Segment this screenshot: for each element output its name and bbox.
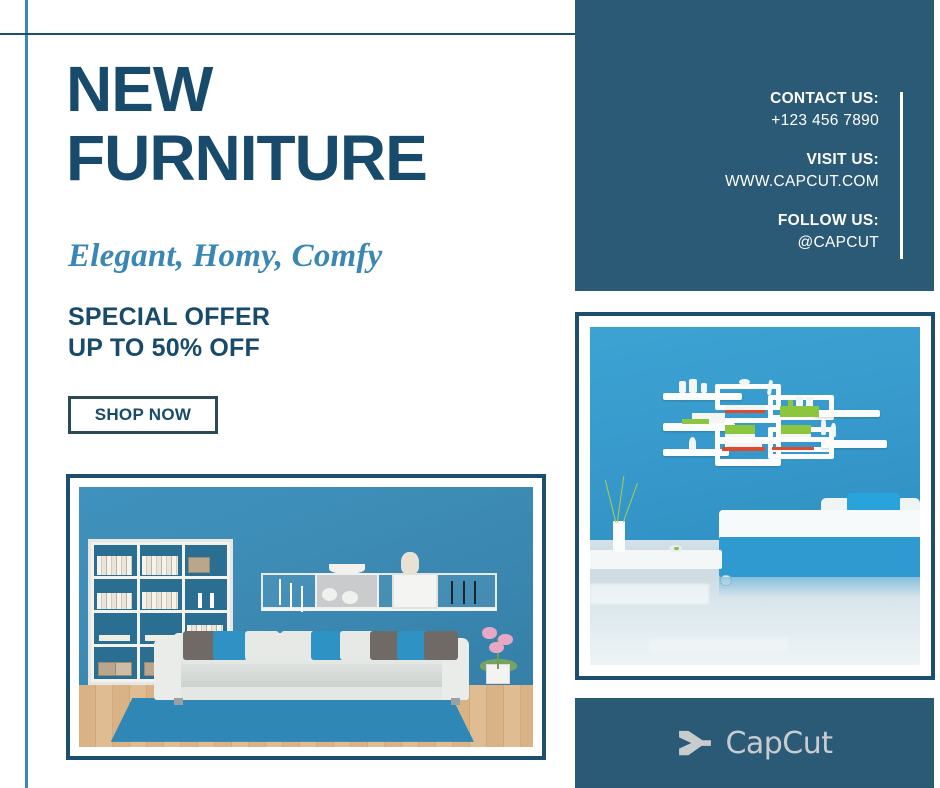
lr-blue-rug [111, 698, 474, 742]
shop-now-button[interactable]: SHOP NOW [68, 396, 218, 434]
contact-details: CONTACT US: +123 456 7890 VISIT US: WWW.… [725, 88, 879, 254]
headline-line-2: FURNITURE [66, 127, 536, 190]
lr-sofa-leg-right [451, 698, 460, 706]
lr-shelf-board [261, 608, 497, 611]
bd-object-1 [679, 381, 686, 393]
contact-panel: CONTACT US: +123 456 7890 VISIT US: WWW.… [575, 0, 934, 291]
lr-pillow-4 [281, 631, 315, 660]
lr-flower-c [489, 642, 504, 653]
bd-lamp-shelf [689, 437, 696, 451]
page-title: NEW FURNITURE [66, 58, 536, 189]
contact-vertical-rule [900, 92, 903, 259]
contact-value-phone[interactable]: +123 456 7890 [725, 110, 879, 132]
bd-green-book-4 [725, 425, 755, 434]
bd-green-book-3 [682, 419, 708, 424]
offer-line-1: SPECIAL OFFER [68, 302, 270, 333]
bd-red-book-3 [772, 447, 815, 450]
capcut-logo[interactable]: CapCut [575, 698, 934, 788]
bd-vase-shelf-1 [821, 418, 826, 435]
lr-black-candle-a [451, 581, 453, 604]
contact-label-website: VISIT US: [725, 149, 879, 171]
subtitle: Elegant, Homy, Comfy [68, 238, 382, 275]
left-content-column: NEW FURNITURE Elegant, Homy, Comfy SPECI… [0, 0, 575, 788]
poster-canvas: NEW FURNITURE Elegant, Homy, Comfy SPECI… [0, 0, 940, 788]
bd-white-book-4 [781, 434, 811, 437]
lr-pillow-3 [245, 631, 279, 660]
living-room-image [79, 487, 533, 747]
lr-flower-a [482, 627, 497, 638]
bd-low-table [590, 550, 722, 569]
bd-floor-vase [613, 521, 625, 551]
bd-shelf-6 [715, 459, 781, 466]
bd-bed-base [719, 537, 920, 578]
bd-floor-reflection [649, 638, 788, 652]
bd-bed-reflection [719, 577, 920, 597]
bd-low-table-shadow [590, 569, 715, 583]
lr-candle-c [301, 586, 303, 612]
contact-label-social: FOLLOW US: [725, 210, 879, 232]
contact-value-social[interactable]: @CAPCUT [725, 232, 879, 254]
lr-shelf-box-white [392, 573, 437, 609]
lr-pillow-9 [424, 631, 458, 660]
bd-vase-shelf-2 [831, 423, 836, 437]
lr-sofa-seat [165, 664, 446, 687]
logo-panel: CapCut [575, 698, 934, 788]
bd-shelf-2 [814, 410, 880, 417]
bd-mattress [719, 510, 920, 540]
contact-value-website[interactable]: WWW.CAPCUT.COM [725, 171, 879, 193]
contact-label-phone: CONTACT US: [725, 88, 879, 110]
side-image-frame [575, 312, 935, 680]
capcut-mark-icon [676, 728, 714, 758]
lr-sphere-b [342, 591, 357, 604]
bd-red-book-2 [722, 447, 765, 450]
contact-group-social: FOLLOW US: @CAPCUT [725, 210, 879, 254]
lr-vase [401, 552, 419, 574]
main-image-frame [66, 474, 546, 760]
special-offer-text: SPECIAL OFFER UP TO 50% OFF [68, 302, 270, 364]
lr-pillow-2 [213, 631, 247, 660]
contact-group-phone: CONTACT US: +123 456 7890 [725, 88, 879, 132]
bd-table-reflection [590, 584, 709, 604]
lr-bowl [329, 564, 365, 574]
lr-wall-shelf [261, 573, 497, 609]
bd-white-book-3 [725, 434, 755, 437]
lr-sofa-leg-left [174, 698, 183, 706]
bd-object-3 [701, 383, 708, 393]
bd-green-book-2 [780, 406, 820, 417]
lr-black-candle-c [474, 581, 476, 604]
lr-candle-b [290, 583, 292, 609]
bd-green-book-5 [781, 425, 811, 434]
bd-object-2 [689, 379, 697, 393]
lr-sofa-arm-left [154, 638, 181, 700]
bd-red-book-1 [725, 410, 765, 413]
capcut-logo-text: CapCut [725, 726, 832, 761]
bedroom-image [590, 327, 920, 665]
lr-pillow-6 [340, 631, 374, 660]
lr-candle-a [279, 579, 281, 605]
headline-line-1: NEW [66, 58, 536, 121]
offer-line-2: UP TO 50% OFF [68, 333, 270, 364]
contact-group-website: VISIT US: WWW.CAPCUT.COM [725, 149, 879, 193]
lr-black-candle-b [463, 581, 465, 604]
